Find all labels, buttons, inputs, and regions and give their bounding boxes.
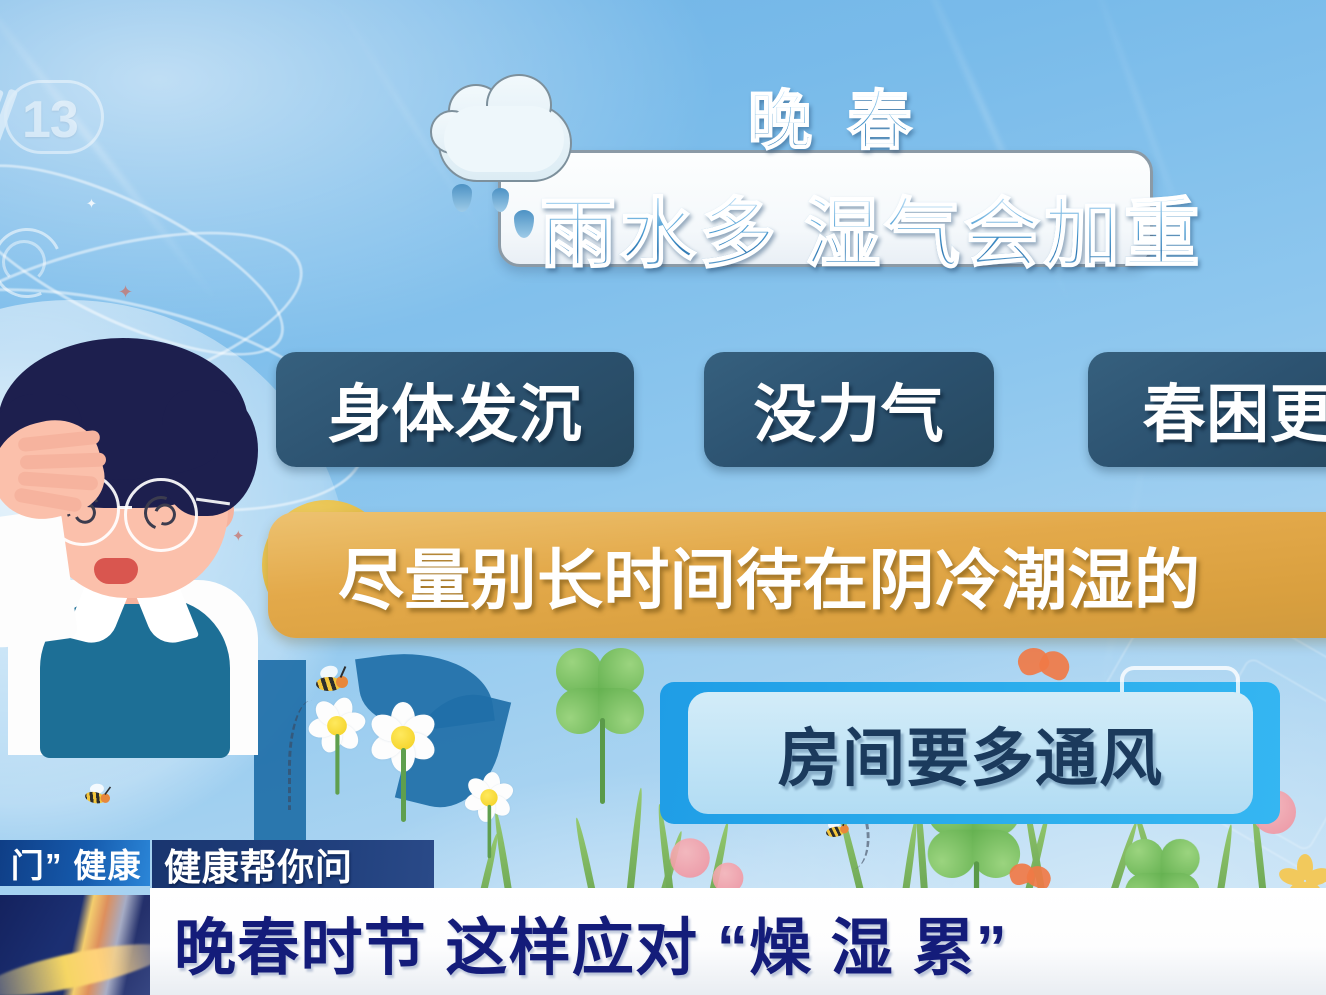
broadcast-lower-third: 门” 健康 健康帮你问 晚春时节 这样应对 “燥 湿 累” (0, 840, 1326, 995)
star-icon: ✦ (86, 196, 97, 212)
decorative-swoosh-graphic (0, 895, 160, 995)
ventilation-advice-label: 房间要多通风 (778, 708, 1164, 799)
cctv-13-news-watermark: 13 闻 (0, 66, 120, 186)
star-icon: ✦ (118, 282, 133, 303)
raindrop-icon (452, 184, 472, 212)
decorative-spiral (2, 240, 46, 284)
bee-icon (312, 672, 348, 694)
raindrop-icon (514, 210, 534, 238)
segment-tab-left-label: 门” 健康 (11, 839, 142, 887)
daisy-flower (462, 770, 515, 823)
character-mouth (94, 558, 138, 584)
symptom-pill-1-label: 身体发沉 (328, 364, 583, 455)
headline-bar: 晚春时节 这样应对 “燥 湿 累” (150, 888, 1326, 995)
symptom-pill-3-label: 春困更 (1143, 364, 1326, 455)
glasses-bridge (118, 506, 132, 509)
flower-stem (335, 734, 339, 795)
clover-leaf (556, 648, 648, 740)
symptom-pill-1: 身体发沉 (276, 352, 634, 467)
flower-core (327, 716, 347, 736)
title-line-1: 晚 春 (748, 70, 921, 162)
advice-band-label: 尽量别长时间待在阴冷潮湿的 (338, 527, 1200, 623)
cloud-fill (444, 106, 564, 172)
dizzy-man-illustration (0, 330, 298, 750)
advice-band: 尽量别长时间待在阴冷潮湿的 (268, 512, 1326, 638)
headline-text: 晚春时节 这样应对 “燥 湿 累” (174, 897, 1008, 987)
flower-core (391, 726, 415, 750)
watermark-channel-number: 13 (22, 90, 78, 150)
ventilation-box-inner: 房间要多通风 (688, 692, 1253, 814)
program-name-tab: 健康帮你问 (152, 840, 434, 888)
raindrop-icon (492, 188, 509, 212)
symptom-pill-2: 没力气 (704, 352, 994, 467)
flower-core (480, 789, 497, 806)
ventilation-advice-box: 房间要多通风 (660, 682, 1280, 824)
daisy-flower (366, 700, 440, 774)
symptom-pill-2-label: 没力气 (754, 364, 945, 455)
flower-stem (401, 748, 406, 822)
broadcast-frame: ✦ ✦ ✦ 13 闻 (0, 0, 1326, 995)
clover-lobe (556, 688, 602, 734)
program-name-label: 健康帮你问 (164, 837, 353, 891)
butterfly-icon (1018, 648, 1074, 682)
symptom-pill-3: 春困更 (1088, 352, 1326, 467)
title-line-2: 雨水多 湿气会加重 (540, 172, 1203, 282)
clover-stem (600, 718, 605, 804)
segment-tab-left: 门” 健康 (0, 840, 150, 886)
character-finger (20, 453, 106, 470)
bee-head (336, 676, 348, 688)
